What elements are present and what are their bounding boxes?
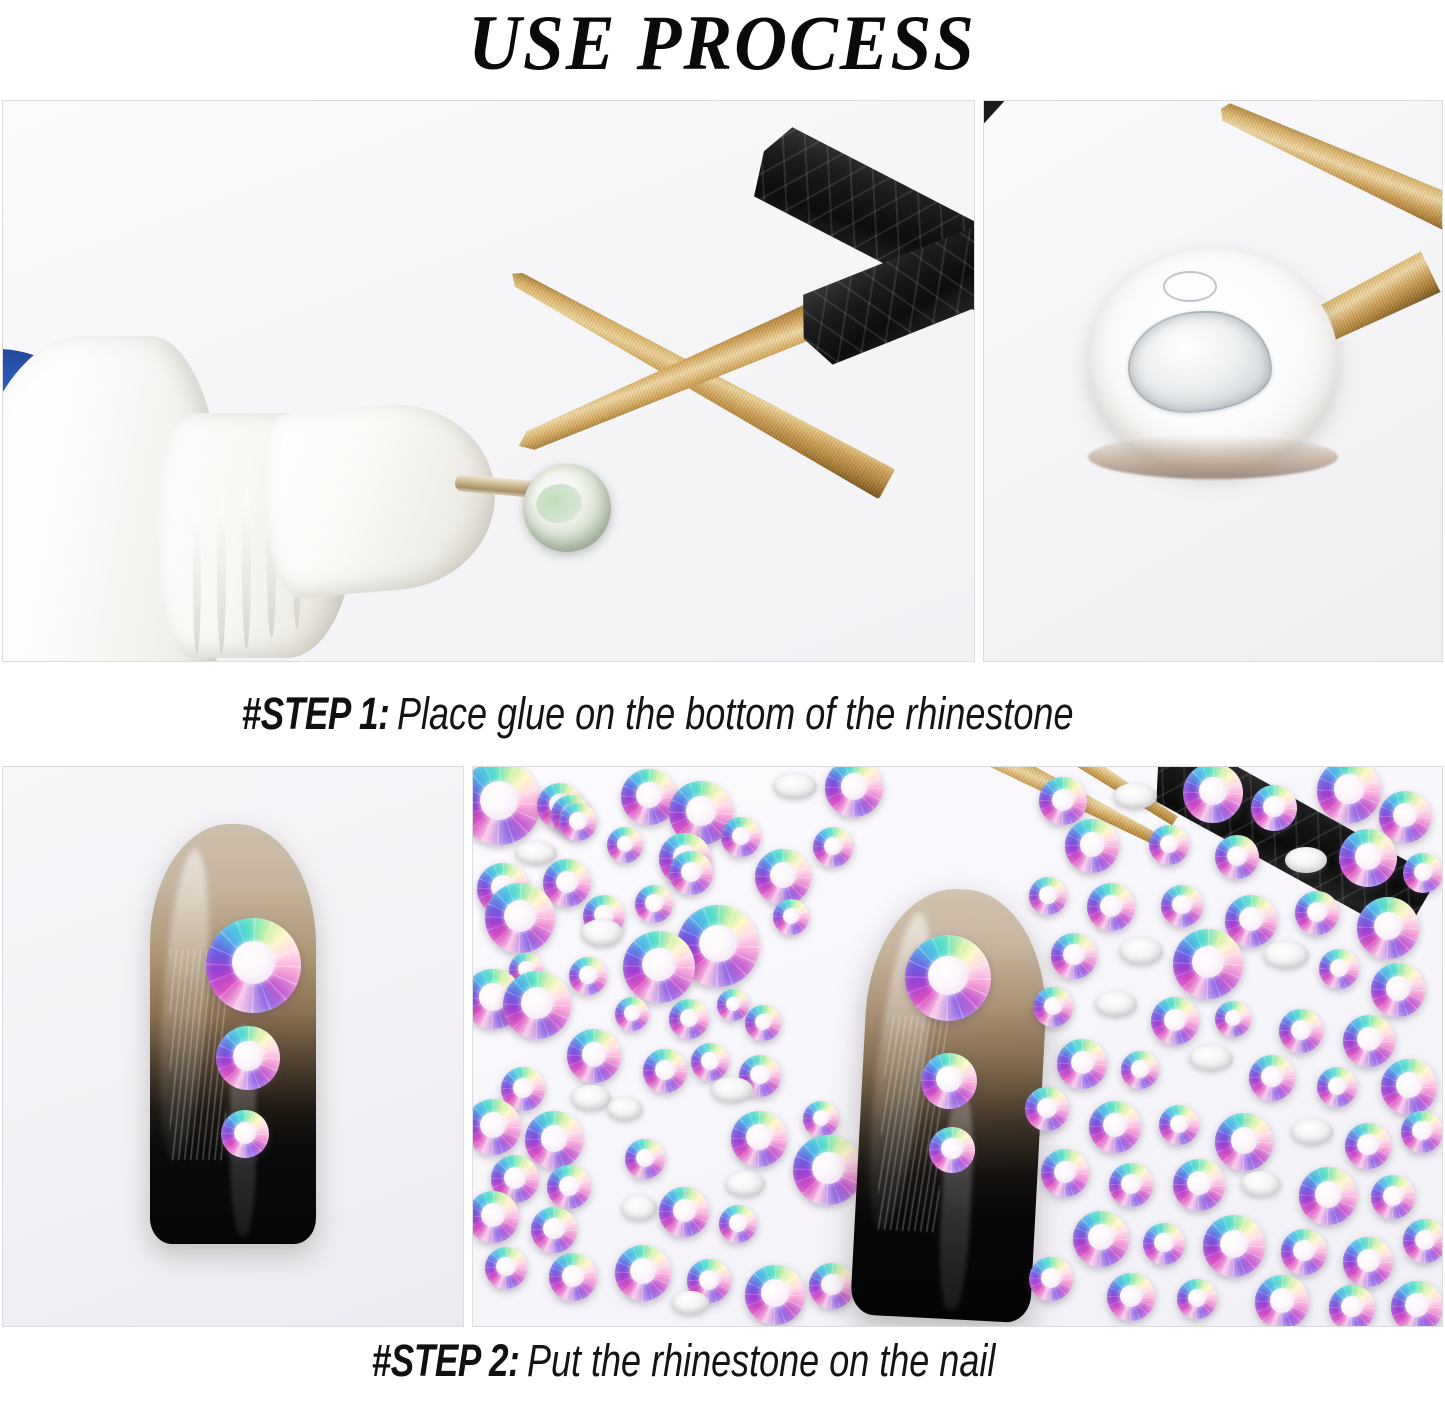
scatter-rhinestone — [1151, 997, 1199, 1045]
glue-blob — [1128, 311, 1272, 413]
panel-divider — [464, 766, 472, 1327]
scatter-rhinestone — [1177, 1279, 1217, 1319]
scatter-rhinestone — [1029, 1257, 1073, 1301]
step-2-description: Put the rhinestone on the nail — [519, 1335, 995, 1387]
scatter-rhinestone-flatback — [1119, 937, 1163, 965]
scatter-rhinestone — [1299, 1167, 1357, 1225]
scatter-rhinestone — [773, 899, 809, 935]
finished-nail-panel — [2, 766, 464, 1327]
scatter-rhinestone-flatback — [1095, 991, 1137, 1017]
scatter-rhinestone — [1215, 1113, 1273, 1171]
scatter-rhinestone — [625, 1139, 665, 1179]
scatter-rhinestone — [1381, 1059, 1437, 1115]
scatter-rhinestone — [547, 1165, 591, 1209]
scatter-rhinestone — [1295, 891, 1339, 935]
scatter-rhinestone — [1255, 1275, 1309, 1327]
nail-brush-streaks — [876, 1015, 948, 1233]
nail-rhinestone-large — [905, 935, 991, 1021]
scatter-rhinestone — [1215, 835, 1259, 879]
scatter-rhinestone-flatback — [515, 841, 557, 865]
scatter-rhinestone — [531, 1207, 577, 1253]
rhinestone-rim — [1088, 435, 1338, 479]
scatter-rhinestone — [623, 931, 695, 1003]
scatter-rhinestone — [1025, 1087, 1069, 1131]
scatter-rhinestone — [559, 803, 597, 841]
scatter-rhinestone-flatback — [581, 919, 623, 947]
scatter-rhinestone — [755, 849, 811, 905]
scatter-rhinestone — [1343, 1015, 1395, 1067]
scatter-rhinestone — [1279, 1009, 1323, 1053]
scatter-rhinestone — [1109, 1163, 1153, 1207]
panel-divider — [975, 100, 983, 662]
scatter-rhinestone — [1403, 853, 1443, 893]
scatter-rhinestone-flatback — [725, 1171, 765, 1197]
scatter-rhinestone — [1329, 1285, 1375, 1327]
glue-applicator-panel — [2, 100, 975, 662]
scatter-rhinestone — [1033, 987, 1073, 1027]
scatter-rhinestone — [1317, 1067, 1357, 1107]
step-2-label: #STEP 2: — [372, 1335, 520, 1387]
scatter-rhinestone-flatback — [1263, 941, 1309, 969]
scatter-rhinestone — [1403, 1219, 1443, 1263]
scatter-rhinestone — [1371, 963, 1425, 1017]
scatter-rhinestone — [1339, 829, 1397, 887]
scatter-rhinestone — [1203, 1215, 1265, 1277]
scatter-rhinestone — [1073, 1211, 1129, 1267]
scatter-rhinestone — [1051, 933, 1097, 979]
nail-rhinestone-small — [221, 1110, 269, 1158]
scatter-rhinestone — [793, 1135, 863, 1205]
scatter-rhinestone — [1159, 1105, 1199, 1145]
scatter-rhinestone — [1401, 1111, 1443, 1153]
scatter-rhinestone — [1173, 929, 1243, 999]
scatter-rhinestone-flatback — [621, 1195, 657, 1221]
scatter-rhinestone — [643, 1049, 687, 1093]
scatter-rhinestone — [615, 1245, 671, 1301]
scatter-rhinestone — [1215, 1001, 1251, 1037]
scatter-rhinestone — [485, 1247, 527, 1289]
step-2-caption: #STEP 2: Put the rhinestone on the nail — [0, 1327, 1445, 1397]
scatter-rhinestone — [1107, 1273, 1155, 1321]
scatter-rhinestone — [1281, 1229, 1327, 1275]
scatter-rhinestone — [525, 1111, 583, 1169]
scatter-rhinestone-flatback — [607, 1097, 643, 1121]
scatter-rhinestone — [567, 1029, 621, 1083]
scatter-rhinestone — [731, 1111, 787, 1167]
scatter-rhinestone — [659, 1187, 709, 1237]
scatter-rhinestone — [1345, 1123, 1391, 1169]
scatter-rhinestone — [1089, 1101, 1141, 1153]
page-title: USE PROCESS — [469, 4, 977, 82]
scatter-rhinestone — [1041, 1149, 1089, 1197]
scatter-rhinestone — [809, 1263, 855, 1309]
step-1-caption: #STEP 1: Place glue on the bottom of the… — [0, 662, 1445, 766]
scatter-rhinestone — [549, 1253, 597, 1301]
scatter-rhinestone-flatback — [1189, 1045, 1233, 1071]
step-1-image-row — [2, 100, 1443, 662]
page-header: USE PROCESS — [0, 0, 1445, 100]
scatter-rhinestone — [1143, 1223, 1185, 1265]
nail-rhinestone-large — [206, 918, 301, 1013]
scatter-rhinestone — [503, 971, 571, 1039]
scatter-rhinestone — [635, 885, 673, 923]
scatter-rhinestone — [1249, 1055, 1295, 1101]
scatter-rhinestone-flatback — [671, 1291, 709, 1315]
scatter-rhinestone — [813, 827, 853, 867]
scatter-rhinestone-flatback — [1291, 1119, 1333, 1145]
glue-bubble — [1163, 271, 1217, 302]
scatter-rhinestone — [1087, 883, 1135, 931]
scatter-rhinestone — [1039, 777, 1087, 825]
scatter-rhinestone — [1343, 1237, 1393, 1287]
scatter-rhinestone — [1161, 885, 1203, 927]
scatter-rhinestone — [745, 1005, 781, 1041]
scatter-rhinestone-flatback — [1113, 783, 1157, 809]
scatter-rhinestone — [1149, 825, 1189, 865]
scatter-rhinestone — [569, 957, 607, 995]
scatter-rhinestone — [485, 883, 555, 953]
scatter-rhinestone — [1173, 1159, 1225, 1211]
rhinestone-closeup-panel — [983, 100, 1443, 662]
scatter-rhinestone — [1251, 785, 1297, 831]
scatter-rhinestone-flatback — [711, 1077, 753, 1103]
scatter-rhinestone — [1391, 1281, 1443, 1327]
scatter-rhinestone — [1057, 1039, 1107, 1089]
scatter-rhinestone — [745, 1265, 805, 1325]
scatter-rhinestone-flatback — [1285, 847, 1327, 873]
scatter-rhinestone — [1121, 1051, 1159, 1089]
step-2-image-row — [2, 766, 1443, 1327]
scatter-rhinestone — [1357, 897, 1419, 959]
scatter-rhinestone — [721, 817, 761, 857]
scatter-rhinestone — [1319, 949, 1359, 989]
scatter-rhinestone-flatback — [571, 1085, 611, 1111]
nail-rhinestone-small — [929, 1127, 975, 1173]
scatter-rhinestone — [719, 1205, 757, 1243]
scatter-rhinestone — [717, 989, 749, 1021]
scatter-rhinestone — [607, 827, 643, 863]
scatter-rhinestone-flatback — [1241, 1171, 1281, 1197]
scatter-rhinestone-flatback — [773, 773, 817, 799]
scatter-rhinestone — [615, 997, 649, 1031]
scatter-rhinestone — [669, 851, 713, 895]
scatter-rhinestone — [669, 999, 709, 1039]
scatter-rhinestone — [803, 1101, 839, 1137]
rhinestone-flat-back — [1088, 249, 1338, 471]
step-1-description: Place glue on the bottom of the rhinesto… — [389, 688, 1073, 740]
scatter-rhinestone — [1065, 819, 1119, 873]
step-1-label: #STEP 1: — [242, 688, 390, 740]
scatter-rhinestone — [1029, 877, 1067, 915]
nail-rhinestone-medium — [216, 1026, 280, 1090]
rhinestone-application-panel — [472, 766, 1443, 1327]
nail-rhinestone-medium — [921, 1053, 977, 1109]
scatter-rhinestone — [691, 1043, 729, 1081]
scatter-rhinestone — [1371, 1175, 1415, 1219]
